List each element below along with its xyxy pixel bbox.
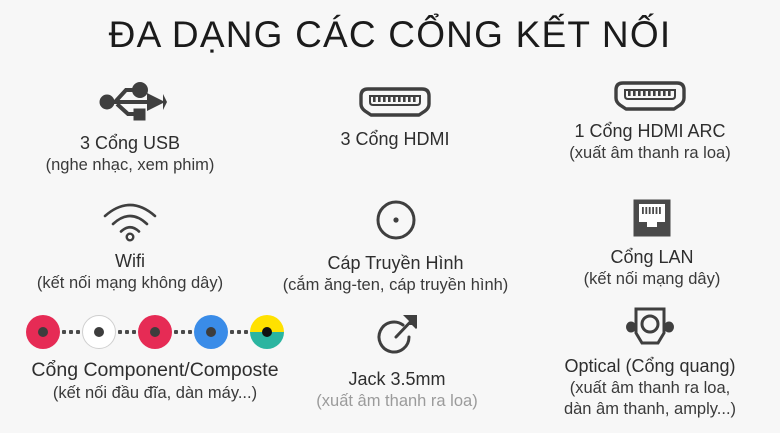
feature-sublabel-line1: (xuất âm thanh ra loa, (520, 378, 780, 399)
audio-jack-icon (307, 312, 487, 358)
cable-dots (228, 330, 250, 334)
feature-sublabel: (cắm ăng-ten, cáp truyền hình) (252, 275, 539, 296)
feature-sublabel: (xuất âm thanh ra loa) (525, 143, 775, 164)
infographic-canvas: ĐA DẠNG CÁC CỔNG KẾT NỐI 3 Cổng USB (ngh… (0, 0, 780, 433)
cable-dots (60, 330, 82, 334)
feature-lan: Cổng LAN (kết nối mạng dây) (527, 198, 777, 290)
feature-hdmi-arc: 1 Cổng HDMI ARC (xuất âm thanh ra loa) (525, 80, 775, 164)
red-rca-right (138, 315, 172, 349)
page-title: ĐA DẠNG CÁC CỔNG KẾT NỐI (0, 14, 780, 56)
feature-hdmi: 3 Cổng HDMI (270, 86, 520, 151)
feature-sublabel-line2: dàn âm thanh, amply...) (520, 399, 780, 420)
feature-label: 3 Cổng HDMI (270, 128, 520, 151)
blue-rca (194, 315, 228, 349)
hdmi-port-icon (270, 86, 520, 118)
feature-sublabel: (xuất âm thanh ra loa) (307, 391, 487, 412)
feature-sublabel: (kết nối mạng dây) (527, 269, 777, 290)
yellow-teal-rca (250, 315, 284, 349)
cable-dots (172, 330, 194, 334)
usb-icon (5, 80, 255, 124)
feature-optical: Optical (Cổng quang) (xuất âm thanh ra l… (520, 305, 780, 420)
feature-sublabel: (kết nối mạng không dây) (5, 273, 255, 294)
feature-wifi: Wifi (kết nối mạng không dây) (5, 200, 255, 294)
wifi-icon (5, 200, 255, 242)
red-rca-left (26, 315, 60, 349)
feature-label: Optical (Cổng quang) (520, 355, 780, 378)
feature-label: Cổng Component/Composte (0, 358, 310, 383)
lan-rj45-icon (527, 198, 777, 238)
optical-toslink-icon (520, 305, 780, 349)
white-rca (82, 315, 116, 349)
rca-connectors-icon (0, 315, 310, 349)
feature-label: Wifi (5, 250, 255, 273)
coaxial-antenna-icon (252, 198, 539, 242)
feature-usb: 3 Cổng USB (nghe nhạc, xem phim) (5, 80, 255, 176)
feature-label: 1 Cổng HDMI ARC (525, 120, 775, 143)
feature-label: Cổng LAN (527, 246, 777, 269)
feature-component-composite: Cổng Component/Composte (kết nối đầu đĩa… (0, 315, 310, 404)
feature-label: 3 Cổng USB (5, 132, 255, 155)
hdmi-arc-port-icon (525, 80, 775, 112)
rca-strip (0, 315, 310, 349)
feature-cable-tv: Cáp Truyền Hình (cắm ăng-ten, cáp truyền… (252, 198, 539, 296)
feature-sublabel: (kết nối đầu đĩa, dàn máy...) (0, 383, 310, 404)
feature-label: Cáp Truyền Hình (252, 252, 539, 275)
cable-dots (116, 330, 138, 334)
feature-sublabel: (nghe nhạc, xem phim) (5, 155, 255, 176)
feature-label: Jack 3.5mm (307, 368, 487, 391)
feature-jack-35mm: Jack 3.5mm (xuất âm thanh ra loa) (307, 312, 487, 412)
